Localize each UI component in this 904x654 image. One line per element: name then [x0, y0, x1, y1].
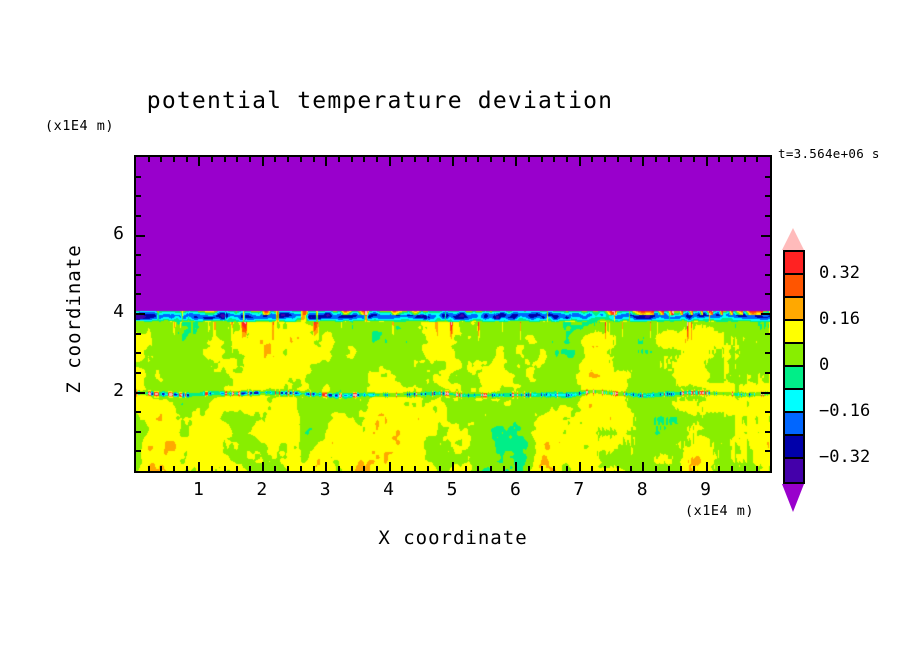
- x-tick-minor: [731, 466, 733, 471]
- x-tick-top-minor: [274, 157, 276, 162]
- x-tick-top-minor: [693, 157, 695, 162]
- x-tick-top-major: [642, 157, 644, 166]
- x-tick-label: 1: [178, 479, 218, 500]
- x-tick-minor: [274, 466, 276, 471]
- y-axis-title: Z coordinate: [63, 219, 85, 419]
- x-tick-top-minor: [363, 157, 365, 162]
- y-tick-right-minor: [765, 431, 770, 433]
- y-tick-minor: [136, 411, 141, 413]
- y-tick-minor: [136, 431, 141, 433]
- x-tick-minor: [224, 466, 226, 471]
- y-tick-minor: [136, 352, 141, 354]
- colorbar-band: [785, 321, 803, 344]
- x-tick-major: [642, 462, 644, 471]
- x-tick-minor: [604, 466, 606, 471]
- x-tick-minor: [300, 466, 302, 471]
- x-tick-top-minor: [503, 157, 505, 162]
- x-tick-top-minor: [249, 157, 251, 162]
- y-tick-right-minor: [765, 176, 770, 178]
- y-tick-minor: [136, 450, 141, 452]
- x-tick-top-minor: [655, 157, 657, 162]
- x-tick-top-minor: [313, 157, 315, 162]
- y-tick-label: 4: [96, 301, 124, 322]
- y-tick-label: 6: [96, 223, 124, 244]
- x-tick-major: [452, 462, 454, 471]
- x-tick-label: 6: [495, 479, 535, 500]
- colorbar-tick-label: 0.32: [819, 263, 860, 283]
- x-tick-top-minor: [160, 157, 162, 162]
- x-tick-top-minor: [439, 157, 441, 162]
- x-tick-minor: [376, 466, 378, 471]
- x-tick-top-minor: [287, 157, 289, 162]
- colorbar-band: [785, 459, 803, 482]
- x-tick-minor: [313, 466, 315, 471]
- x-tick-label: 4: [369, 479, 409, 500]
- colorbar-under-arrow: [782, 484, 804, 512]
- x-tick-top-minor: [566, 157, 568, 162]
- y-tick-right-minor: [765, 411, 770, 413]
- x-tick-top-minor: [465, 157, 467, 162]
- x-tick-minor: [363, 466, 365, 471]
- y-tick-minor: [136, 372, 141, 374]
- x-tick-minor: [591, 466, 593, 471]
- x-tick-top-minor: [351, 157, 353, 162]
- x-tick-major: [515, 462, 517, 471]
- x-tick-minor: [439, 466, 441, 471]
- x-tick-top-major: [515, 157, 517, 166]
- y-tick-right-minor: [765, 293, 770, 295]
- x-tick-minor: [528, 466, 530, 471]
- x-tick-top-minor: [414, 157, 416, 162]
- colorbar-band: [785, 413, 803, 436]
- x-tick-top-minor: [680, 157, 682, 162]
- x-tick-top-minor: [718, 157, 720, 162]
- y-tick-right-minor: [765, 450, 770, 452]
- x-tick-top-minor: [617, 157, 619, 162]
- x-tick-top-minor: [668, 157, 670, 162]
- y-tick-minor: [136, 215, 141, 217]
- x-tick-top-minor: [338, 157, 340, 162]
- y-tick-minor: [136, 195, 141, 197]
- x-tick-top-minor: [630, 157, 632, 162]
- x-tick-top-minor: [186, 157, 188, 162]
- x-tick-minor: [148, 466, 150, 471]
- x-tick-major: [389, 462, 391, 471]
- x-tick-label: 3: [305, 479, 345, 500]
- x-tick-minor: [465, 466, 467, 471]
- y-tick-right-minor: [765, 195, 770, 197]
- y-tick-right-minor: [765, 352, 770, 354]
- x-tick-top-minor: [591, 157, 593, 162]
- x-tick-minor: [160, 466, 162, 471]
- x-tick-top-minor: [224, 157, 226, 162]
- y-tick-minor: [136, 293, 141, 295]
- x-tick-label: 7: [559, 479, 599, 500]
- y-tick-major: [136, 392, 145, 394]
- x-tick-top-major: [452, 157, 454, 166]
- y-tick-minor: [136, 333, 141, 335]
- x-tick-minor: [503, 466, 505, 471]
- y-tick-right-major: [761, 392, 770, 394]
- x-tick-minor: [249, 466, 251, 471]
- colorbar-band: [785, 367, 803, 390]
- page-title: potential temperature deviation: [0, 88, 760, 114]
- x-tick-top-minor: [236, 157, 238, 162]
- x-tick-top-minor: [173, 157, 175, 162]
- x-tick-top-minor: [427, 157, 429, 162]
- x-tick-top-major: [579, 157, 581, 166]
- colorbar-band: [785, 252, 803, 275]
- y-tick-minor: [136, 176, 141, 178]
- x-tick-top-major: [389, 157, 391, 166]
- x-tick-top-major: [706, 157, 708, 166]
- x-tick-major: [579, 462, 581, 471]
- y-tick-right-major: [761, 313, 770, 315]
- colorbar-tick-label: 0: [819, 355, 829, 375]
- x-tick-major: [325, 462, 327, 471]
- y-tick-major: [136, 235, 145, 237]
- x-tick-minor: [338, 466, 340, 471]
- x-tick-minor: [477, 466, 479, 471]
- y-tick-right-minor: [765, 215, 770, 217]
- y-axis-unit-label: (x1E4 m): [45, 118, 114, 134]
- x-tick-top-minor: [376, 157, 378, 162]
- y-tick-right-minor: [765, 254, 770, 256]
- colorbar-band: [785, 344, 803, 367]
- x-tick-minor: [541, 466, 543, 471]
- y-tick-right-major: [761, 235, 770, 237]
- x-tick-label: 5: [432, 479, 472, 500]
- colorbar-band: [785, 436, 803, 459]
- x-tick-minor: [668, 466, 670, 471]
- x-tick-major: [262, 462, 264, 471]
- x-tick-minor: [173, 466, 175, 471]
- x-tick-minor: [655, 466, 657, 471]
- x-tick-minor: [287, 466, 289, 471]
- x-tick-top-minor: [528, 157, 530, 162]
- x-tick-top-minor: [211, 157, 213, 162]
- x-tick-minor: [630, 466, 632, 471]
- colorbar-band: [785, 275, 803, 298]
- x-axis-unit-label: (x1E4 m): [685, 503, 754, 519]
- x-tick-minor: [680, 466, 682, 471]
- x-tick-minor: [566, 466, 568, 471]
- x-tick-major: [198, 462, 200, 471]
- y-tick-minor: [136, 274, 141, 276]
- y-tick-right-minor: [765, 333, 770, 335]
- x-tick-top-minor: [744, 157, 746, 162]
- x-axis-title: X coordinate: [134, 527, 772, 549]
- x-tick-top-minor: [756, 157, 758, 162]
- x-tick-major: [706, 462, 708, 471]
- x-tick-minor: [236, 466, 238, 471]
- x-tick-minor: [186, 466, 188, 471]
- x-tick-minor: [414, 466, 416, 471]
- x-tick-label: 2: [242, 479, 282, 500]
- x-tick-minor: [401, 466, 403, 471]
- y-tick-right-minor: [765, 372, 770, 374]
- y-tick-major: [136, 313, 145, 315]
- x-tick-minor: [693, 466, 695, 471]
- x-tick-minor: [756, 466, 758, 471]
- x-tick-top-minor: [490, 157, 492, 162]
- x-tick-top-minor: [401, 157, 403, 162]
- x-tick-minor: [744, 466, 746, 471]
- y-tick-minor: [136, 254, 141, 256]
- time-annotation: t=3.564e+06 s: [778, 146, 880, 161]
- x-tick-minor: [211, 466, 213, 471]
- x-tick-minor: [553, 466, 555, 471]
- colorbar-tick-label: −0.16: [819, 401, 870, 421]
- colorbar-over-arrow: [782, 228, 804, 250]
- colorbar-tick-label: 0.16: [819, 309, 860, 329]
- scalar-field-image: [136, 157, 770, 471]
- x-tick-top-minor: [477, 157, 479, 162]
- x-tick-top-minor: [300, 157, 302, 162]
- colorbar-tick-label: −0.32: [819, 447, 870, 467]
- x-tick-minor: [351, 466, 353, 471]
- x-tick-minor: [427, 466, 429, 471]
- y-tick-label: 2: [96, 380, 124, 401]
- colorbar-band: [785, 390, 803, 413]
- x-tick-minor: [617, 466, 619, 471]
- x-tick-label: 8: [622, 479, 662, 500]
- colorbar-band: [785, 298, 803, 321]
- x-tick-top-minor: [553, 157, 555, 162]
- x-tick-top-minor: [731, 157, 733, 162]
- x-tick-minor: [718, 466, 720, 471]
- y-tick-right-minor: [765, 274, 770, 276]
- x-tick-minor: [490, 466, 492, 471]
- x-tick-top-minor: [541, 157, 543, 162]
- x-tick-top-minor: [604, 157, 606, 162]
- colorbar-bands: [783, 250, 805, 484]
- x-tick-top-major: [262, 157, 264, 166]
- contour-plot-area: [134, 155, 772, 473]
- x-tick-top-minor: [148, 157, 150, 162]
- x-tick-top-major: [325, 157, 327, 166]
- x-tick-label: 9: [686, 479, 726, 500]
- x-tick-top-major: [198, 157, 200, 166]
